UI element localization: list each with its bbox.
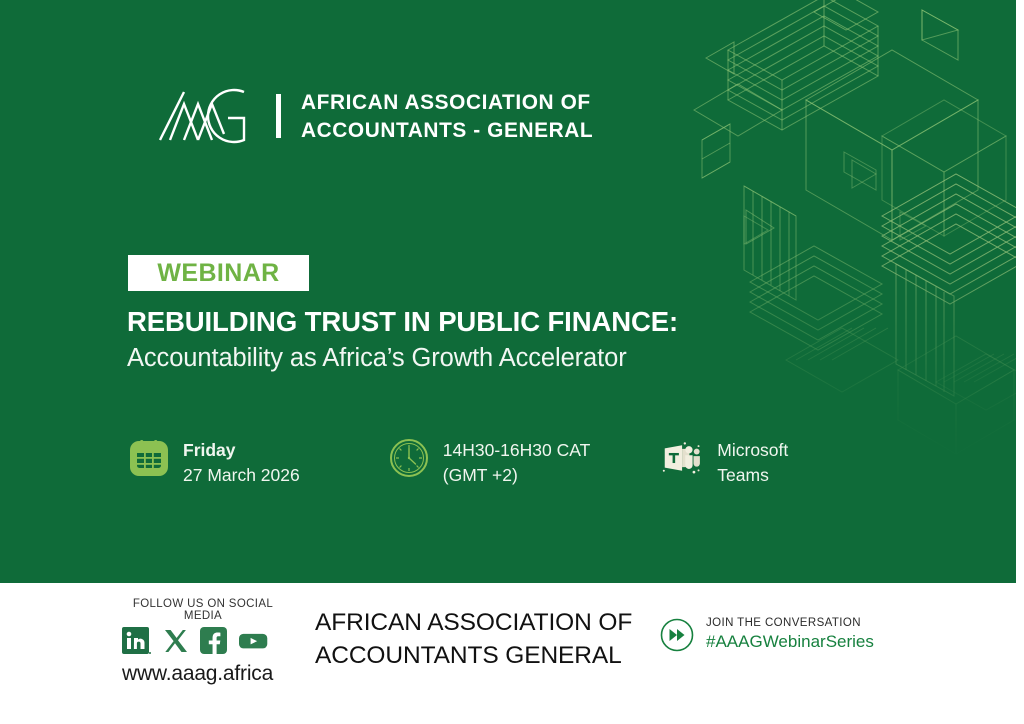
hashtag-label[interactable]: #AAAGWebinarSeries <box>706 632 874 652</box>
join-conversation-block: JOIN THE CONVERSATION #AAAGWebinarSeries <box>660 617 874 652</box>
youtube-icon[interactable] <box>239 627 268 656</box>
detail-date-line2: 27 March 2026 <box>183 463 300 488</box>
calendar-icon <box>128 437 170 479</box>
facebook-icon[interactable] <box>200 627 229 656</box>
detail-time: 14H30-16H30 CAT (GMT +2) <box>388 437 591 489</box>
social-icon-row <box>122 627 322 656</box>
webinar-badge: WEBINAR <box>128 255 309 291</box>
join-conversation-text: JOIN THE CONVERSATION #AAAGWebinarSeries <box>706 617 874 652</box>
aaag-monogram-icon <box>158 86 262 146</box>
webinar-subtitle: Accountability as Africa’s Growth Accele… <box>127 344 627 373</box>
webinar-poster: AFRICAN ASSOCIATION OF ACCOUNTANTS - GEN… <box>0 0 1024 724</box>
clock-icon <box>388 437 430 479</box>
detail-platform-line1: Microsoft <box>717 438 788 463</box>
brand-lockup: AFRICAN ASSOCIATION OF ACCOUNTANTS - GEN… <box>158 86 602 146</box>
social-block: FOLLOW US ON SOCIAL MEDIA <box>122 598 322 686</box>
footer-bar: FOLLOW US ON SOCIAL MEDIA <box>0 583 1024 724</box>
logo-organisation-name: AFRICAN ASSOCIATION OF ACCOUNTANTS - GEN… <box>301 88 593 145</box>
detail-date: Friday 27 March 2026 <box>128 437 300 489</box>
detail-time-line2: (GMT +2) <box>443 463 591 488</box>
join-conversation-label: JOIN THE CONVERSATION <box>706 617 874 629</box>
webinar-badge-label: WEBINAR <box>157 259 279 288</box>
detail-platform-line2: Teams <box>717 463 788 488</box>
footer-organisation-name: AFRICAN ASSOCIATION OF ACCOUNTANTS GENER… <box>315 607 632 672</box>
detail-date-text: Friday 27 March 2026 <box>183 437 300 489</box>
detail-date-line1: Friday <box>183 438 300 463</box>
linkedin-icon[interactable] <box>122 627 151 656</box>
x-twitter-icon[interactable] <box>161 627 190 656</box>
event-details: Friday 27 March 2026 <box>128 437 788 489</box>
webinar-title: REBUILDING TRUST IN PUBLIC FINANCE: <box>127 306 678 338</box>
social-label: FOLLOW US ON SOCIAL MEDIA <box>122 598 284 622</box>
fast-forward-circle-icon <box>660 618 694 652</box>
microsoft-teams-icon <box>662 437 704 479</box>
detail-time-text: 14H30-16H30 CAT (GMT +2) <box>443 437 591 489</box>
detail-platform: Microsoft Teams <box>662 437 788 489</box>
logo-divider <box>276 94 281 138</box>
detail-time-line1: 14H30-16H30 CAT <box>443 438 591 463</box>
hero-panel: AFRICAN ASSOCIATION OF ACCOUNTANTS - GEN… <box>0 0 1016 583</box>
isometric-pattern-decoration <box>686 0 1016 470</box>
detail-platform-text: Microsoft Teams <box>717 437 788 489</box>
website-url[interactable]: www.aaag.africa <box>122 662 322 686</box>
